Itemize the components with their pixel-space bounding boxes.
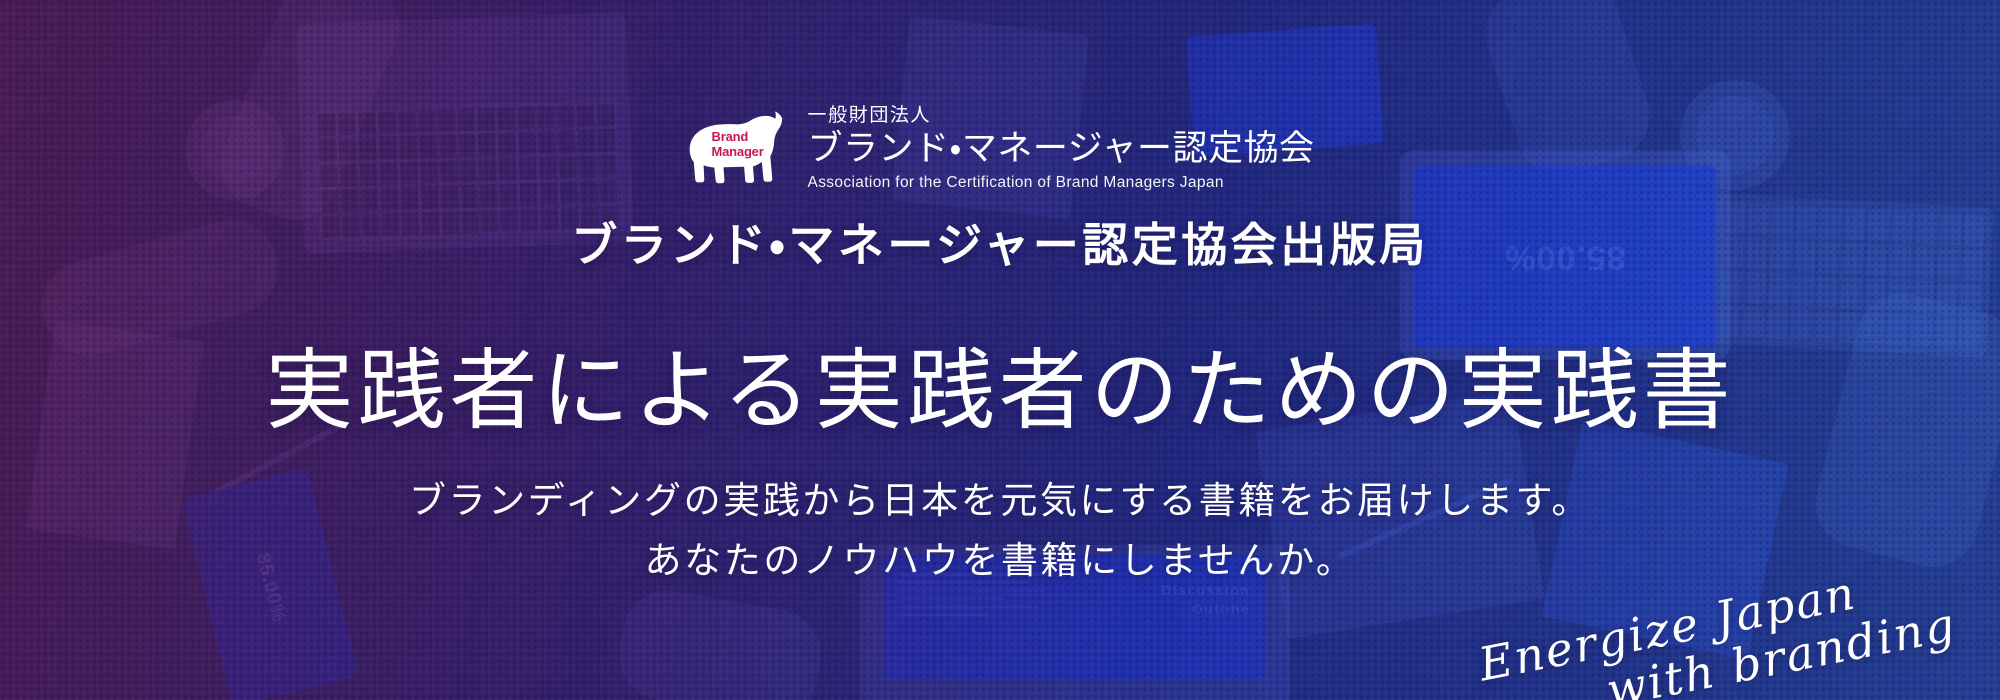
page-title: 実践者による実践者のための実践書 [265, 341, 1734, 445]
logo-kicker: 一般財団法人 [808, 106, 1315, 127]
association-logo[interactable]: Brand Manager 一般財団法人 ブランド・マネージャー認定協会 Ass… [686, 106, 1315, 192]
hero-content: Brand Manager 一般財団法人 ブランド・マネージャー認定協会 Ass… [0, 0, 2000, 700]
logo-english-name: Association for the Certification of Bra… [808, 174, 1315, 193]
hero-description-line1: ブランディングの実践から日本を元気にする書籍をお届けします。 [409, 472, 1591, 532]
hero-eyebrow: ブランド・マネージャー認定協会出版局 [571, 218, 1428, 273]
logo-text-block: 一般財団法人 ブランド・マネージャー認定協会 Association for t… [808, 106, 1315, 192]
cow-icon: Brand Manager [686, 106, 794, 192]
hero-description: ブランディングの実践から日本を元気にする書籍をお届けします。 あなたのノウハウを… [409, 472, 1591, 592]
hero-description-line2: あなたのノウハウを書籍にしませんか。 [409, 532, 1591, 592]
hero-banner: 85.00% 85.00% Discussion Outline [0, 0, 2000, 700]
logo-organization-name: ブランド・マネージャー認定協会 [808, 129, 1315, 169]
